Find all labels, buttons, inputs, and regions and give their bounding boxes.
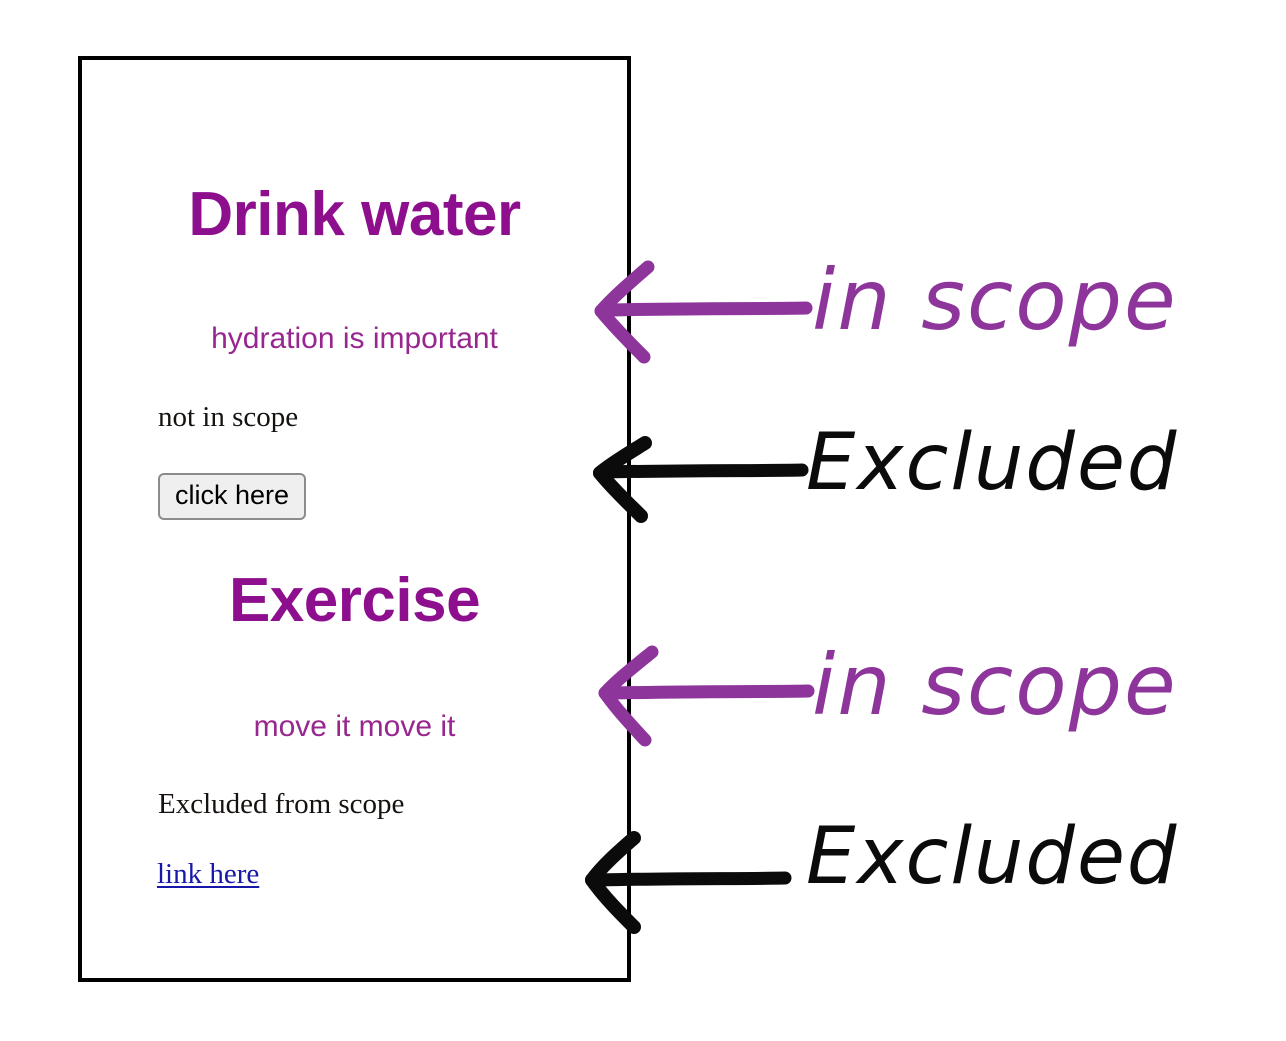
heading-drink-water: Drink water [82, 184, 627, 246]
paragraph-excluded-from-scope: Excluded from scope [158, 790, 404, 819]
rendered-page-body: Drink water hydration is important not i… [82, 60, 627, 978]
rendered-page-frame: Drink water hydration is important not i… [78, 56, 631, 982]
annotation-label-in-scope-2: in scope [812, 643, 1178, 727]
annotation-label-in-scope-1: in scope [812, 258, 1178, 342]
heading-exercise: Exercise [82, 570, 627, 632]
paragraph-not-in-scope: not in scope [158, 403, 298, 432]
annotation-arrow-in-scope-2 [605, 652, 808, 740]
subheading-hydration: hydration is important [82, 324, 627, 354]
annotation-arrow-in-scope-1 [601, 267, 806, 357]
link-here-anchor[interactable]: link here [157, 860, 259, 889]
click-here-button[interactable]: click here [158, 473, 306, 520]
annotation-label-excluded-1: Excluded [806, 424, 1178, 502]
subheading-move-it: move it move it [82, 712, 627, 742]
annotation-label-excluded-2: Excluded [806, 818, 1178, 896]
